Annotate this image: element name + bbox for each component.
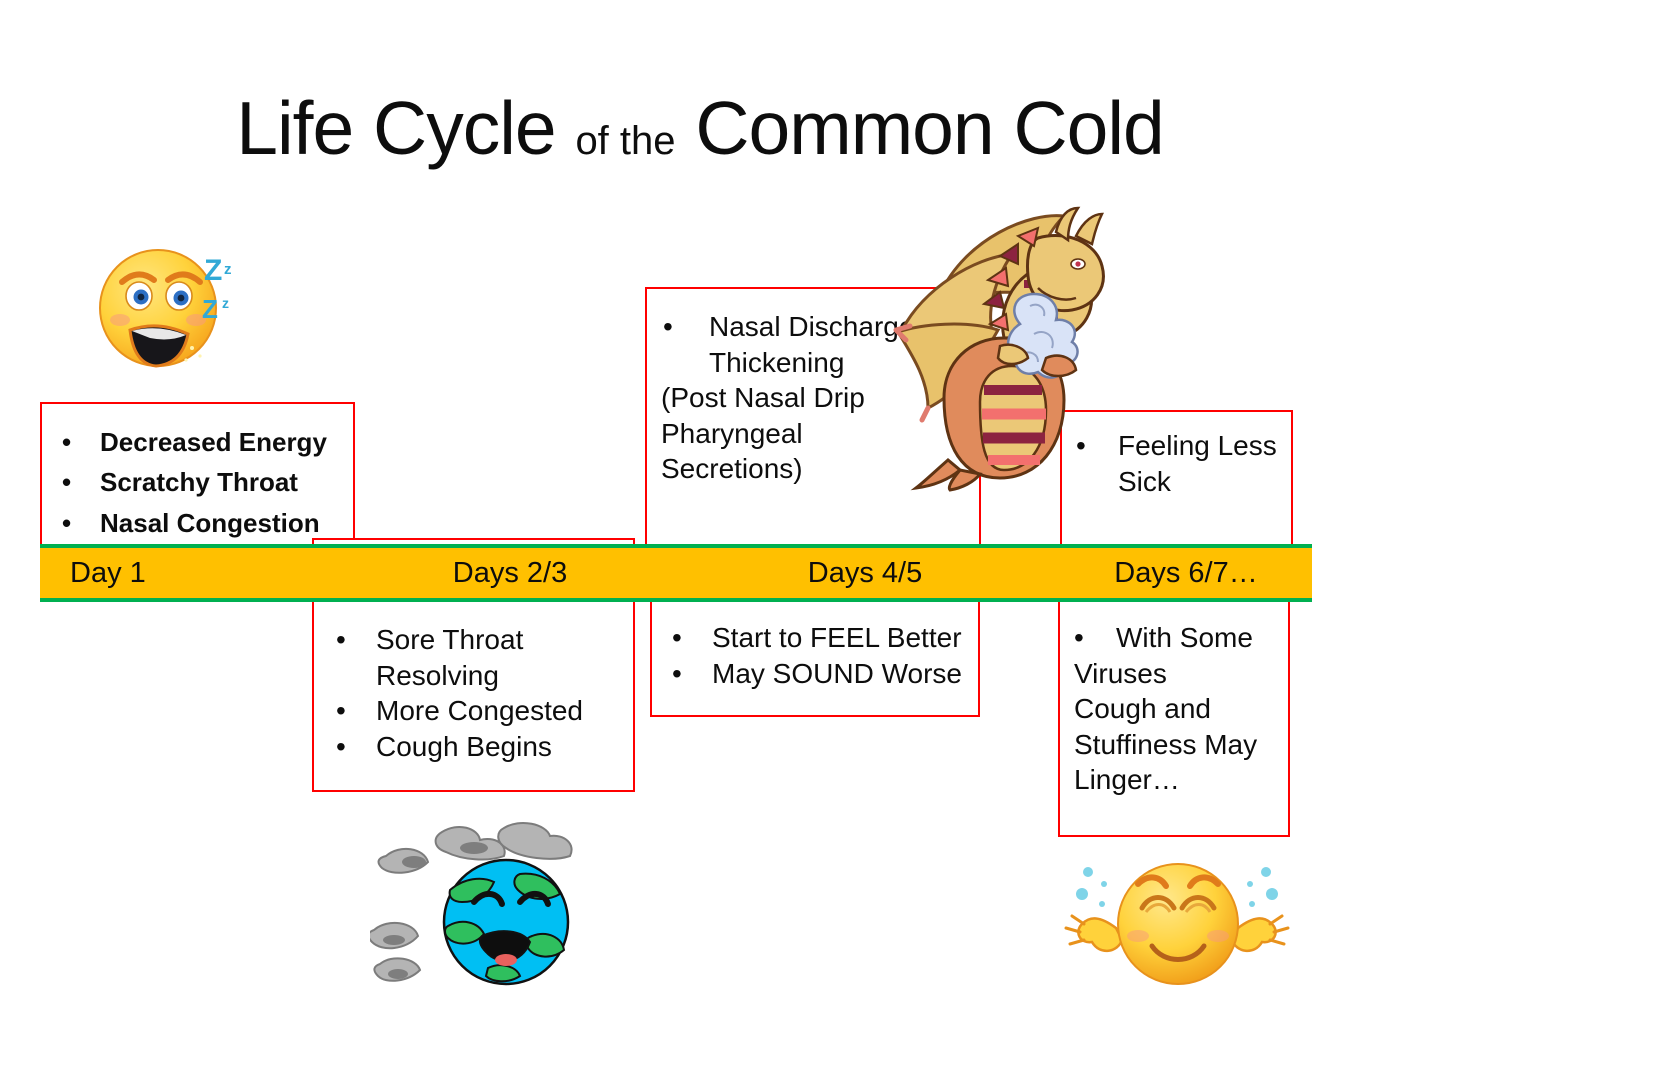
timeline-bar: Day 1 Days 2/3 Days 4/5 Days 6/7… [40,544,1312,602]
list-item: With Some [1060,620,1288,656]
list-item: Nasal Congestion [42,503,353,543]
list-item: Sore Throat [314,622,633,658]
timeline-segment-days-6-7[interactable]: Days 6/7… [1060,548,1312,598]
page-title-part-2: of the [575,119,675,163]
dragon-blowing-nose-icon [888,202,1113,492]
symptom-list: With Some Viruses Cough and Stuffiness M… [1060,620,1288,798]
detail-line: Linger… [1060,762,1288,798]
symptom-list: Sore Throat Resolving More Congested Cou… [314,622,633,764]
detail-line: Stuffiness May [1060,727,1288,763]
list-item: Cough Begins [314,729,633,765]
list-item-continuation: Resolving [314,658,633,694]
coughing-earth-icon [370,818,585,988]
symptom-list: Start to FEEL Better May SOUND Worse [652,620,978,691]
sick-tired-emoji-icon: Z z Z z [96,238,248,372]
timeline-segment-day-1[interactable]: Day 1 [40,548,380,598]
svg-text:Z: Z [204,254,222,287]
symptom-list: Decreased Energy Scratchy Throat Nasal C… [42,422,353,543]
svg-text:z: z [222,295,229,311]
page-title: Life Cycle of the Common Cold [0,85,1400,171]
timeline-segment-days-2-3[interactable]: Days 2/3 [350,548,670,598]
callout-days-6-7-lower: With Some Viruses Cough and Stuffiness M… [1058,600,1290,837]
svg-text:z: z [224,261,232,278]
page-title-part-3: Common Cold [676,86,1164,170]
callout-days-4-5-lower: Start to FEEL Better May SOUND Worse [650,596,980,717]
detail-line: Viruses [1060,656,1288,692]
slide-canvas: Life Cycle of the Common Cold [0,0,1680,1076]
svg-text:Z: Z [202,294,218,324]
list-item: Decreased Energy [42,422,353,462]
list-item: Scratchy Throat [42,462,353,502]
list-item: More Congested [314,693,633,729]
detail-line: Cough and [1060,691,1288,727]
list-item: May SOUND Worse [652,656,978,692]
page-title-part-1: Life Cycle [236,86,575,170]
happy-relieved-emoji-icon [1060,850,1295,985]
list-item: Start to FEEL Better [652,620,978,656]
timeline-segment-days-4-5[interactable]: Days 4/5 [670,548,1060,598]
